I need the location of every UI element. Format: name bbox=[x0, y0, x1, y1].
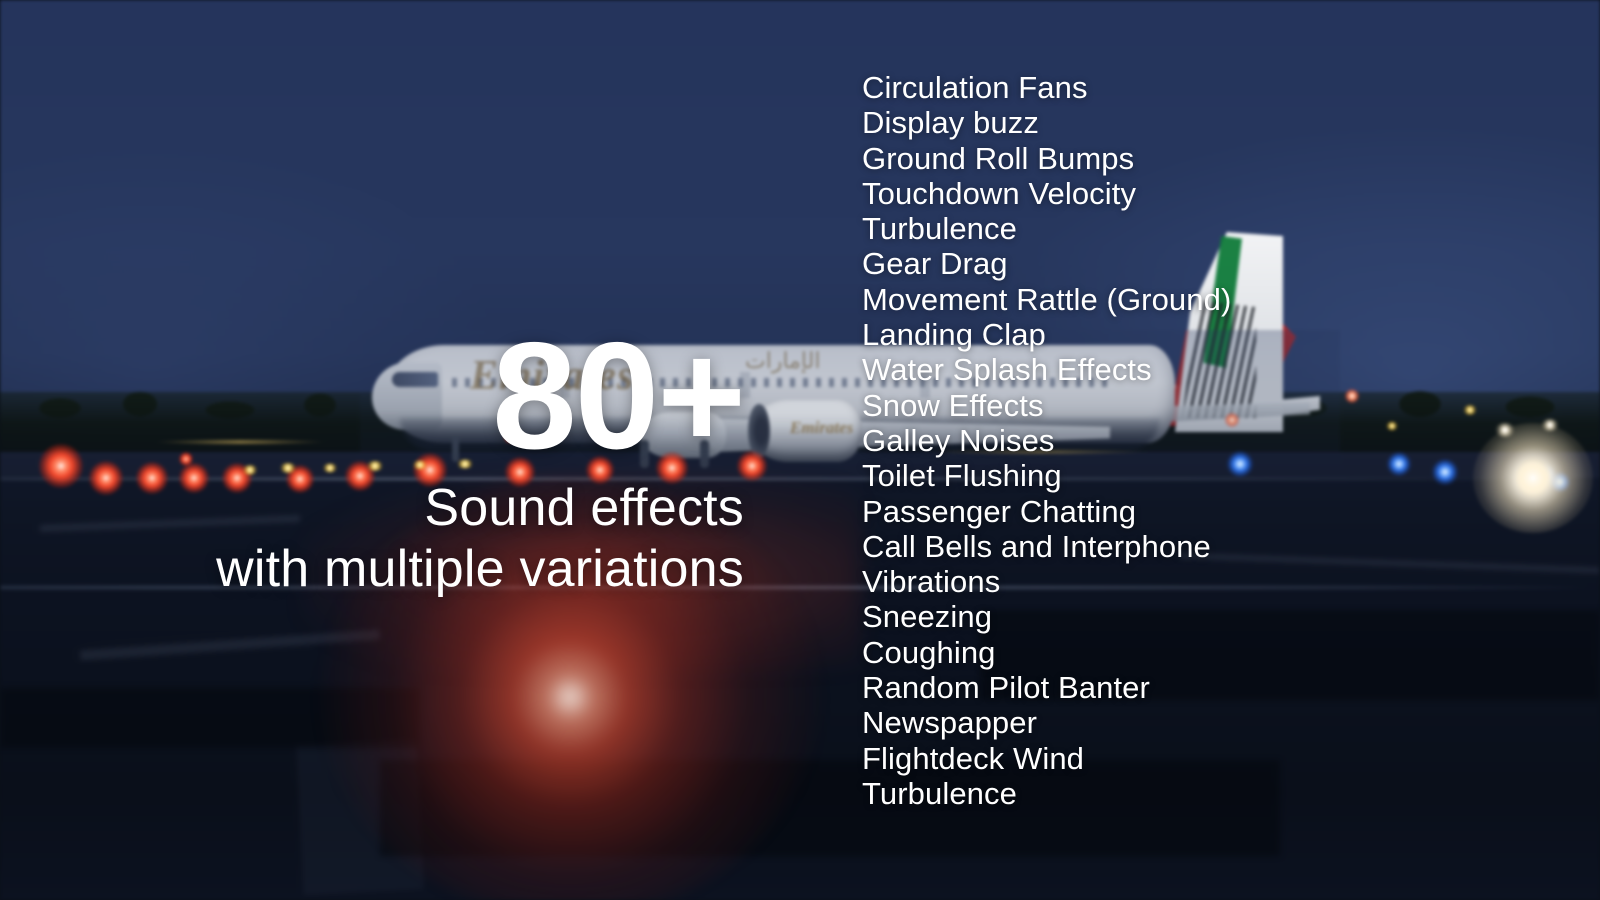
list-item: Newspapper bbox=[862, 705, 1562, 740]
page-title-number: 80+ bbox=[0, 320, 744, 472]
page-subtitle: Sound effects with multiple variations bbox=[0, 478, 744, 601]
list-item: Sneezing bbox=[862, 599, 1562, 634]
list-item: Vibrations bbox=[862, 564, 1562, 599]
list-item: Flightdeck Wind bbox=[862, 741, 1562, 776]
list-item: Toilet Flushing bbox=[862, 458, 1562, 493]
list-item: Galley Noises bbox=[862, 423, 1562, 458]
aircraft-engine-logo: Emirates bbox=[790, 418, 853, 438]
list-item: Snow Effects bbox=[862, 388, 1562, 423]
list-item: Display buzz bbox=[862, 105, 1562, 140]
list-item: Touchdown Velocity bbox=[862, 176, 1562, 211]
sound-effects-list: Circulation FansDisplay buzzGround Roll … bbox=[862, 70, 1562, 811]
list-item: Random Pilot Banter bbox=[862, 670, 1562, 705]
slide-canvas: A6-EXA Emirates الإمارات Emirates bbox=[0, 0, 1600, 900]
list-item: Gear Drag bbox=[862, 246, 1562, 281]
headline-block: 80+ Sound effects with multiple variatio… bbox=[0, 320, 760, 601]
list-item: Circulation Fans bbox=[862, 70, 1562, 105]
list-item: Movement Rattle (Ground) bbox=[862, 282, 1562, 317]
list-item: Landing Clap bbox=[862, 317, 1562, 352]
list-item: Ground Roll Bumps bbox=[862, 141, 1562, 176]
list-item: Turbulence bbox=[862, 211, 1562, 246]
list-item: Coughing bbox=[862, 635, 1562, 670]
list-item: Passenger Chatting bbox=[862, 494, 1562, 529]
list-item: Call Bells and Interphone bbox=[862, 529, 1562, 564]
list-item: Water Splash Effects bbox=[862, 352, 1562, 387]
list-item: Turbulence bbox=[862, 776, 1562, 811]
